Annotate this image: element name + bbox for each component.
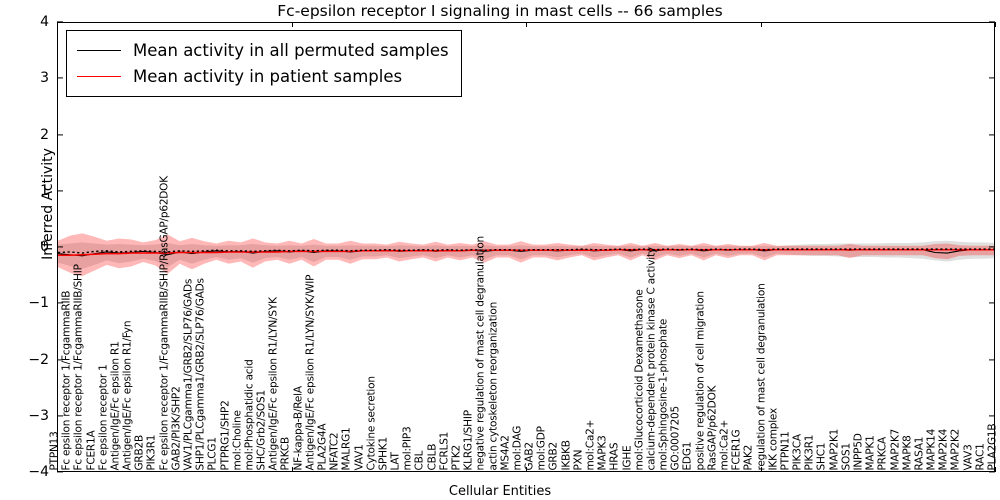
x-category-label: mol:Ca2+: [586, 419, 597, 470]
x-category-label: PXN: [573, 449, 584, 470]
x-category-label: PIK3CA: [793, 434, 804, 470]
x-category-label: PLCG1: [208, 437, 219, 470]
x-category-label: mol:PIP3: [403, 426, 414, 470]
x-category-label: mol:Phosphatidic acid: [244, 359, 255, 470]
x-category-label: INPP5D: [854, 433, 865, 470]
x-category-label: GO:0007205: [671, 405, 682, 470]
y-tick-label: −4: [28, 464, 49, 480]
x-category-label: SHP1/PLCgamma1/GRB2/SLP76/GADs: [196, 278, 207, 470]
y-tick-label: 1: [40, 183, 49, 199]
x-category-label: PIK3R1: [805, 434, 816, 470]
x-category-label: VAV1: [354, 444, 365, 470]
x-category-label: SPHK1: [378, 437, 389, 470]
x-category-label: MS4A2: [500, 435, 511, 470]
x-category-label: MAP2K2: [951, 428, 962, 470]
x-category-label: Antigen/IgE/Fc epsilon R1/LYN/SYK/WIP: [305, 274, 316, 470]
x-category-label: NFATC2: [330, 432, 341, 470]
x-category-label: Fc epsilon receptor 1/FcgammaRIIB/SHIP/R…: [159, 176, 170, 470]
x-category-label: EDG1: [683, 441, 694, 470]
x-category-label: mol:Glucocorticoid Dexamethasone: [634, 289, 645, 470]
x-category-label: actin cytoskeleton reorganization: [488, 301, 499, 470]
x-category-label: RASA1: [914, 436, 925, 470]
y-tick-label: 3: [40, 70, 49, 86]
x-category-label: FCER1A: [86, 430, 97, 470]
x-category-label: Antigen/IgE/Fc epsilon R1/LYN/SYK: [269, 297, 280, 470]
x-category-label: LAT: [391, 452, 402, 470]
x-category-label: mol:Sphingosine-1-phosphate: [659, 318, 670, 470]
y-tick-label: −1: [28, 295, 49, 311]
x-tick-mark: [995, 22, 996, 27]
x-category-label: Cytokine secretion: [366, 376, 377, 470]
x-category-label: PRKCA: [878, 437, 889, 470]
x-category-label: regulation of mast cell degranulation: [756, 283, 767, 470]
x-category-label: SHC1: [817, 442, 828, 470]
x-category-label: SHC/Grb2/SOS1: [257, 390, 268, 470]
x-category-label: MAP2K4: [939, 428, 950, 470]
x-category-label: GAB2/PI3K/SHP2: [171, 386, 182, 470]
x-category-label: KLRG1/SHIP: [464, 410, 475, 470]
y-tick-label: 2: [40, 127, 49, 143]
x-category-label: MAPK1: [866, 435, 877, 470]
x-category-label: FCER1G: [732, 429, 743, 470]
x-category-label: GAB2: [525, 442, 536, 470]
x-category-label: PLA2G4A: [318, 423, 329, 470]
x-category-label: VAV1/PLCgamma1/GRB2/SLP76/GADs: [184, 278, 195, 470]
x-category-label: PTPN13: [50, 431, 61, 470]
x-category-label: PTPRG1/SHP2: [220, 400, 231, 470]
x-category-label: PAK2: [744, 444, 755, 470]
x-category-label: RAC1: [975, 443, 986, 470]
legend-label-permuted: Mean activity in all permuted samples: [133, 41, 449, 60]
x-category-label: PLA2G1B: [988, 423, 999, 470]
x-category-label: MAPK8: [902, 435, 913, 470]
x-category-label: MAP2K1: [829, 428, 840, 470]
x-category-label: mol:GDP: [537, 426, 548, 470]
x-category-label: positive regulation of cell migration: [695, 291, 706, 470]
legend-label-patient: Mean activity in patient samples: [133, 67, 402, 86]
x-category-label: GRB2: [549, 441, 560, 470]
x-category-label: VAV3: [963, 444, 974, 470]
chart-title: Fc-epsilon receptor I signaling in mast …: [0, 2, 1000, 20]
legend-entry-permuted: Mean activity in all permuted samples: [77, 37, 449, 63]
y-tick-label: −2: [28, 352, 49, 368]
x-category-label: Fc epsilon receptor 1: [98, 364, 109, 470]
x-category-label: Fc epsilon receptor 1/FcgammaRIIB: [62, 290, 73, 470]
x-category-label: FCRLS1: [439, 431, 450, 470]
legend-swatch-permuted: [77, 50, 121, 51]
y-tick-label: 4: [40, 14, 49, 30]
x-category-label: NF-kappa-B/RelA: [293, 386, 304, 470]
x-category-label: MAP2K7: [890, 428, 901, 470]
x-category-label: IKK complex: [768, 407, 779, 470]
x-category-label: calcium-dependent protein kinase C activ…: [646, 247, 657, 470]
chart-legend: Mean activity in all permuted samples Me…: [66, 30, 462, 97]
x-category-label: CBL: [415, 450, 426, 470]
x-category-label: Fc epsilon receptor 1/FcgammaRIIB/SHIP: [74, 264, 85, 470]
x-category-label: RasGAP/p62DOK: [707, 385, 718, 470]
x-category-label: GRB2B: [135, 434, 146, 470]
x-category-label: HRAS: [610, 442, 621, 470]
x-category-label: mol:Ca2+: [720, 419, 731, 470]
x-category-label: PTPN11: [780, 431, 791, 470]
x-category-label: negative regulation of mast cell degranu…: [476, 236, 487, 471]
legend-swatch-patient: [77, 76, 121, 77]
x-category-label: PTK2: [452, 444, 463, 470]
x-category-label: CBLB: [427, 443, 438, 470]
x-category-label: IKBKB: [561, 440, 572, 470]
y-tick-label: 0: [40, 239, 49, 255]
x-category-label: PIK3R1: [147, 434, 158, 470]
chart-root: Fc-epsilon receptor I signaling in mast …: [0, 0, 1000, 500]
x-category-label: PRKCB: [281, 437, 292, 470]
x-category-label: MAPK3: [598, 435, 609, 470]
x-category-label: SOS1: [841, 443, 852, 470]
legend-entry-patient: Mean activity in patient samples: [77, 63, 449, 89]
x-category-label: IGHE: [622, 445, 633, 470]
x-category-label: mol:DAG: [512, 425, 523, 470]
x-category-label: Antigen/IgE/Fc epsilon R1: [110, 341, 121, 470]
x-axis-label: Cellular Entities: [0, 484, 1000, 499]
y-tick-label: −3: [28, 408, 49, 424]
x-category-label: MAPK14: [927, 428, 938, 470]
x-category-label: Antigen/IgE/Fc epsilon R1/Fyn: [123, 320, 134, 470]
x-category-label: mol:Choline: [232, 410, 243, 470]
x-category-label: MALRG1: [342, 427, 353, 470]
